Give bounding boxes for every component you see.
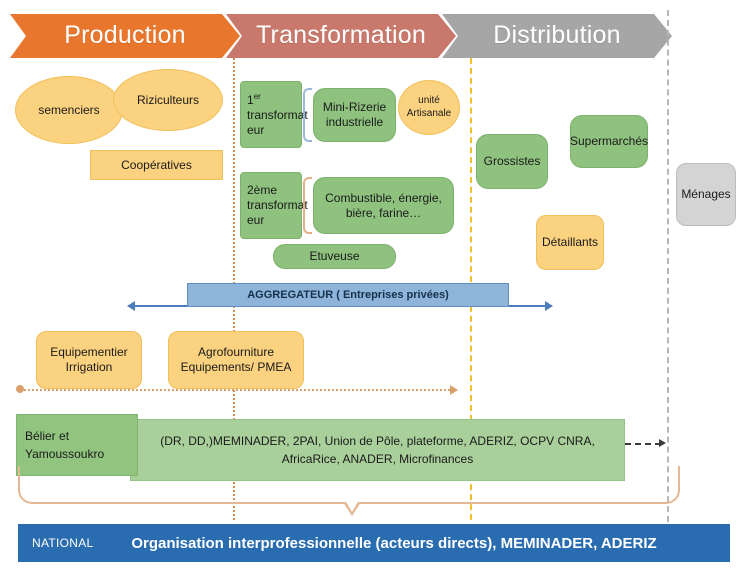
node-riziculteurs-label: Riziculteurs (137, 93, 199, 108)
stage-banner-production: Production (10, 14, 240, 58)
node-grossistes-label: Grossistes (484, 154, 541, 169)
aggregator-arrow-left-icon (127, 301, 135, 311)
node-riziculteurs: Riziculteurs (113, 69, 223, 131)
node-agrofourniture: Agrofourniture Equipements/ PMEA (168, 331, 304, 389)
node-premier-transformateur-text: transformat eur (247, 108, 308, 137)
value-chain-diagram: Production Transformation Distribution s… (0, 0, 754, 576)
node-combustible-label: Combustible, énergie, bière, farine… (320, 191, 447, 221)
separator-distribution-consumers (667, 10, 669, 522)
node-region-label: Bélier et Yamoussoukro (25, 427, 129, 463)
stage-banner-distribution-label: Distribution (493, 21, 620, 50)
stage-banner-transformation-label: Transformation (256, 21, 426, 50)
node-aggregateur: AGGREGATEUR ( Entreprises privées) (187, 283, 509, 307)
node-agrofourniture-label: Agrofourniture Equipements/ PMEA (175, 345, 297, 375)
node-aggregateur-label: AGGREGATEUR ( Entreprises privées) (247, 289, 449, 301)
node-mini-rizerie-label: Mini-Rizerie industrielle (320, 100, 389, 130)
supply-flow-line (20, 389, 450, 391)
node-cooperatives-label: Coopératives (121, 158, 192, 173)
ordinal-number: 1 (247, 93, 254, 107)
node-menages-label: Ménages (681, 187, 730, 202)
aggregator-arrow-right-icon (545, 301, 553, 311)
node-etuveuse: Etuveuse (273, 244, 396, 269)
node-mini-rizerie-industrielle: Mini-Rizerie industrielle (313, 88, 396, 142)
node-unite-artisanale: unité Artisanale (398, 80, 460, 135)
national-scope-brace (18, 466, 680, 504)
node-deuxieme-transformateur: 2ème transformat eur (240, 172, 302, 239)
node-semenciers-label: semenciers (38, 103, 99, 118)
node-premier-transformateur-label: 1er transformat eur (247, 92, 308, 138)
node-institutions-actors-label: (DR, DD,)MEMINADER, 2PAI, Union de Pôle,… (141, 432, 614, 468)
node-etuveuse-label: Etuveuse (309, 249, 359, 264)
node-deuxieme-transformateur-label: 2ème transformat eur (247, 183, 308, 228)
node-unite-artisanale-label: unité Artisanale (405, 95, 453, 120)
institutions-flow-arrow-icon (659, 439, 666, 447)
node-grossistes: Grossistes (476, 134, 548, 189)
supply-flow-arrow-icon (450, 385, 458, 395)
institutions-flow-line (625, 443, 661, 445)
national-scope-brace-pointer-inner-icon (345, 500, 359, 512)
node-cooperatives: Coopératives (90, 150, 223, 180)
brace-deuxieme-transformateur (303, 177, 312, 234)
node-supermarches-label: Supermarchés (570, 134, 648, 149)
national-level-label: NATIONAL (18, 536, 118, 550)
node-detaillants-label: Détaillants (542, 235, 598, 250)
ordinal-suffix: er (254, 92, 261, 101)
node-combustible-energie: Combustible, énergie, bière, farine… (313, 177, 454, 234)
stage-banner-transformation: Transformation (226, 14, 456, 58)
node-menages: Ménages (676, 163, 736, 226)
node-premier-transformateur: 1er transformat eur (240, 81, 302, 148)
node-supermarches: Supermarchés (570, 115, 648, 168)
node-equipementier-irrigation: Equipementier Irrigation (36, 331, 142, 389)
brace-premier-transformateur (303, 88, 312, 142)
stage-banner-production-label: Production (64, 21, 186, 50)
stage-banner-distribution: Distribution (442, 14, 672, 58)
national-level-bar: NATIONAL Organisation interprofessionnel… (18, 524, 730, 562)
node-equipementier-label: Equipementier Irrigation (43, 345, 135, 375)
national-level-text: Organisation interprofessionnelle (acteu… (118, 535, 730, 552)
node-semenciers: semenciers (15, 76, 123, 144)
node-detaillants: Détaillants (536, 215, 604, 270)
